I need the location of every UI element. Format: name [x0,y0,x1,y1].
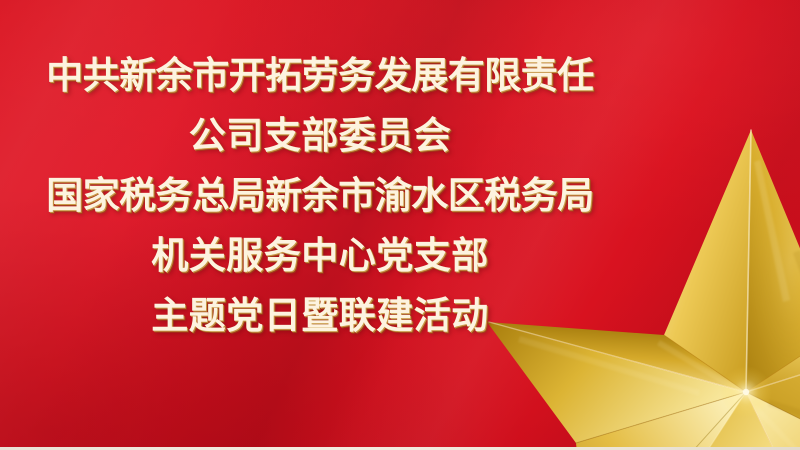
headline-line-1: 中共新余市开拓劳务发展有限责任 [0,46,640,106]
headline-line-5: 主题党日暨联建活动 [0,286,640,346]
headline-line-3: 国家税务总局新余市渝水区税务局 [0,166,640,226]
headline-line-2: 公司支部委员会 [0,106,640,166]
headline-line-4: 机关服务中心党支部 [0,226,640,286]
poster-canvas: 中共新余市开拓劳务发展有限责任 公司支部委员会 国家税务总局新余市渝水区税务局 … [0,0,800,450]
headline-block: 中共新余市开拓劳务发展有限责任 公司支部委员会 国家税务总局新余市渝水区税务局 … [0,46,640,346]
